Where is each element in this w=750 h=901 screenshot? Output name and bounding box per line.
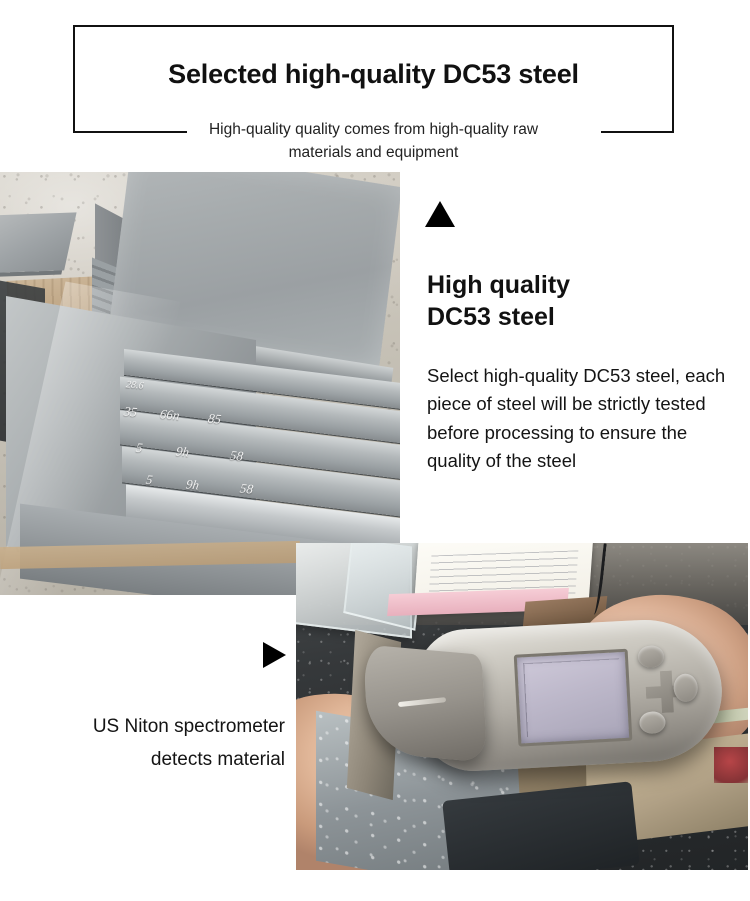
header-frame-top-border bbox=[73, 25, 674, 27]
triangle-right-icon bbox=[263, 642, 286, 668]
spectrometer-photo bbox=[296, 543, 748, 870]
steel-plates-photo: 28.6 35 66n 85 5 9h 58 5 9h 58 bbox=[0, 172, 400, 595]
xrf-spectrometer-device bbox=[370, 616, 725, 779]
inspection-caption: US Niton spectrometer detects material bbox=[20, 711, 285, 776]
poster-page: Selected high-quality DC53 steel High-qu… bbox=[0, 0, 750, 901]
page-subtitle: High-quality quality comes from high-qua… bbox=[100, 118, 647, 165]
header-section: Selected high-quality DC53 steel High-qu… bbox=[0, 0, 750, 172]
spectrometer-lcd-screen bbox=[514, 649, 633, 747]
triangle-up-icon bbox=[425, 201, 455, 227]
feature-body-text: Select high-quality DC53 steel, each pie… bbox=[427, 362, 732, 475]
steel-plate-offcut bbox=[0, 212, 77, 273]
feature-heading: High quality DC53 steel bbox=[427, 270, 727, 333]
page-title: Selected high-quality DC53 steel bbox=[73, 60, 674, 90]
